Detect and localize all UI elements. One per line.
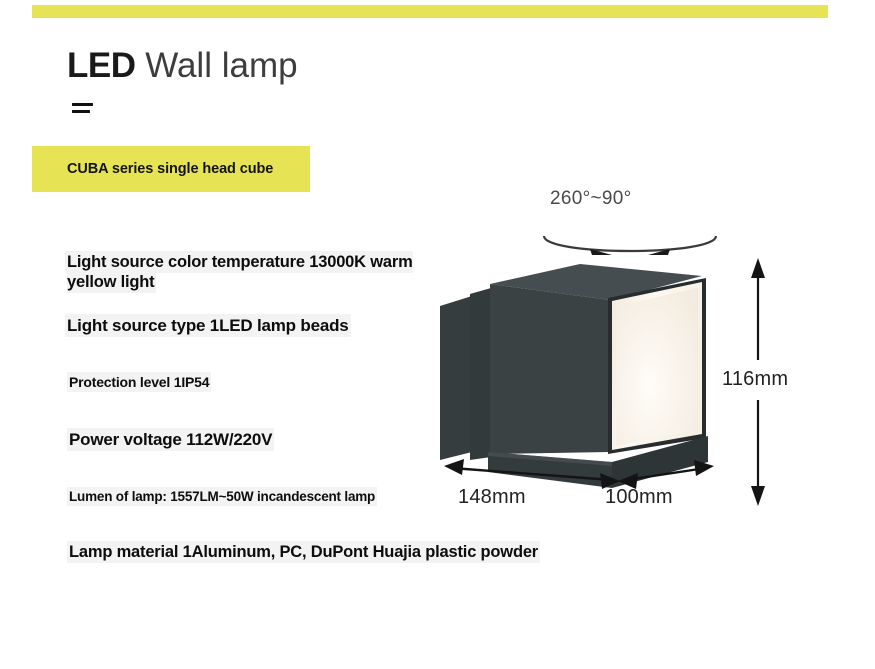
spec-line-material: Lamp material 1Aluminum, PC, DuPont Huaj… <box>69 542 538 562</box>
dimension-width-label: 148mm <box>458 486 526 509</box>
series-badge: CUBA series single head cube <box>32 146 310 192</box>
product-spec-sheet: LED Wall lamp CUBA series single head cu… <box>0 0 875 669</box>
page-title: LED Wall lamp <box>67 46 298 86</box>
two-bar-menu-icon <box>72 103 94 119</box>
spec-text: Light source color temperature 13000K wa… <box>67 253 413 291</box>
series-badge-label: CUBA series single head cube <box>67 161 273 177</box>
spec-text: Lumen of lamp: 1557LM~50W incandescent l… <box>69 489 375 504</box>
top-accent-bar <box>32 5 828 18</box>
product-illustration: 260°~90° <box>430 180 875 540</box>
spec-text: Power voltage 112W/220V <box>69 430 272 449</box>
spec-line-color-temperature: Light source color temperature 13000K wa… <box>67 252 457 292</box>
spec-line-power-voltage: Power voltage 112W/220V <box>69 430 272 451</box>
title-product: Wall lamp <box>136 46 298 85</box>
spec-line-source-type: Light source type 1LED lamp beads <box>67 316 349 337</box>
spec-text: Lamp material 1Aluminum, PC, DuPont Huaj… <box>69 543 538 561</box>
dimension-height-label: 116mm <box>722 368 788 391</box>
spec-text: Protection level 1IP54 <box>69 374 209 390</box>
title-brand: LED <box>67 46 136 85</box>
spec-line-lumen: Lumen of lamp: 1557LM~50W incandescent l… <box>69 489 375 505</box>
dimension-depth-label: 100mm <box>605 486 673 509</box>
spec-line-protection-level: Protection level 1IP54 <box>69 374 209 391</box>
spec-text: Light source type 1LED lamp beads <box>67 316 349 335</box>
